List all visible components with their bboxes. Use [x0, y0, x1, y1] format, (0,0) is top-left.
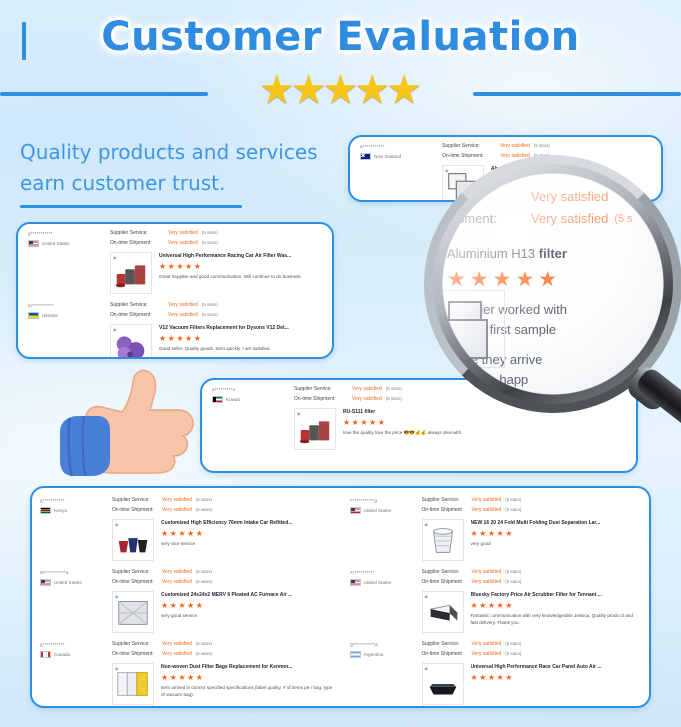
review-text: very good	[471, 540, 642, 547]
product-info: Universal High Performance Race Car Pane…	[471, 663, 642, 705]
supplier-service-row: Supplier Service:Very satisfied(5 stars)	[422, 567, 642, 577]
shipment-row: On-time Shipment:Very satisfied(5 stars)	[112, 505, 333, 515]
review-item: a*********nKuwaitSupplier Service:Very s…	[202, 380, 636, 452]
shipment-note: (5 stars)	[505, 577, 521, 586]
review-product: ◉NEW 16 20 24 Fold Multi Folding Dust Se…	[422, 519, 642, 561]
shipment-value: Very satisfied	[500, 152, 530, 161]
tagline-line-1: Quality products and services	[20, 137, 360, 168]
supplier-service-label: Supplier Service:	[294, 385, 352, 394]
magnified-review: ce: Very satisfied nipment: Very satisfi…	[447, 186, 673, 390]
supplier-service-value: Very satisfied	[472, 496, 502, 505]
supplier-service-label: Supplier Service:	[422, 496, 472, 505]
product-info: RU-S111 filter★★★★★love the quality love…	[343, 408, 628, 450]
supplier-service-row: Supplier Service:Very satisfied(5 stars)	[442, 141, 653, 151]
product-star-rating: ★★★★★	[161, 600, 333, 611]
supplier-service-value: Very satisfied	[352, 385, 382, 394]
review-buyer: A***********United States	[342, 567, 422, 633]
product-star-rating: ★★★★★	[161, 528, 333, 539]
product-title[interactable]: Universal High Performance Racing Car Ai…	[159, 252, 324, 261]
shipment-label: On-time Shipment:	[112, 506, 162, 515]
supplier-service-value: Very satisfied	[162, 640, 192, 649]
page-title: Customer Evaluation	[0, 14, 681, 60]
shipment-label: On-time Shipment:	[112, 650, 162, 659]
product-info: Bluesky Factory Price Air Scrubber Filte…	[471, 591, 642, 633]
buyer-id: g***********	[40, 641, 112, 648]
product-thumbnail[interactable]: ◉	[110, 324, 152, 359]
country-name: Kenya	[54, 508, 67, 513]
product-star-rating: ★★★★★	[343, 417, 628, 428]
country-flag-icon	[28, 240, 39, 247]
buyer-id: a*********n	[212, 386, 294, 393]
supplier-service-note: (5 stars)	[534, 141, 550, 150]
country-flag-icon	[40, 507, 51, 514]
review-item: Q***********aArgentinaSupplier Service:V…	[342, 635, 650, 707]
review-text: Fantastic communication with very knowle…	[471, 612, 642, 626]
product-title[interactable]: Non-woven Dust Filter Bags Replacement f…	[161, 663, 333, 672]
shipment-label: On-time Shipment:	[422, 506, 472, 515]
review-card-top-left: g***********United StatesSupplier Servic…	[16, 222, 334, 359]
review-item: a***********New ZealandSupplier Service:…	[350, 137, 661, 202]
product-title[interactable]: Customized 24x24x2 MERV 6 Pleated AC Fur…	[161, 591, 333, 600]
country-name: United States	[54, 580, 82, 585]
review-body: Supplier Service:Very satisfied(5 stars)…	[112, 639, 341, 705]
supplier-service-value: Very satisfied	[472, 640, 502, 649]
shipment-note: (5 stars)	[202, 310, 218, 319]
product-thumbnail[interactable]: ◉	[422, 663, 464, 705]
review-item: g***********CanadaSupplier Service:Very …	[32, 635, 341, 707]
review-product: ◉Customized High Efficiency 76mm Intake …	[112, 519, 333, 561]
shipment-value: Very satisfied	[162, 506, 192, 515]
supplier-service-row: Supplier Service:Very satisfied(5 stars)	[294, 384, 628, 394]
review-item: m***********UkraineSupplier Service:Very…	[18, 296, 332, 359]
review-buyer: a*********nKuwait	[202, 384, 294, 450]
product-info: Universal High Performance Racing Car Ai…	[159, 252, 324, 294]
star-icon: ★	[323, 70, 359, 110]
supplier-service-value: Very satisfied	[472, 568, 502, 577]
review-text: Good seller. Quality goods. Sent quickly…	[159, 345, 324, 352]
buyer-country: Kuwait	[212, 396, 294, 403]
review-body: Supplier Service:Very satisfied(5 stars)…	[442, 141, 661, 202]
product-star-rating: ★★★★★	[159, 261, 324, 272]
tagline: Quality products and services earn custo…	[20, 137, 360, 199]
review-item: g***********United StatesSupplier Servic…	[32, 707, 341, 708]
review-text: Item arrived in correct specified specif…	[161, 684, 333, 698]
product-info: Aluminium H13 filter★★★★★	[491, 165, 653, 202]
product-thumbnail[interactable]: ◉	[294, 408, 336, 450]
shipment-value: Very satisfied	[168, 239, 198, 248]
country-flag-icon	[40, 651, 51, 658]
product-star-rating: ★★★★★	[471, 672, 642, 683]
review-body: Supplier Service:Very satisfied(5 stars)…	[294, 384, 636, 450]
supplier-service-row: Supplier Service:Very satisfied(5 stars)	[112, 639, 333, 649]
supplier-service-note: (5 stars)	[202, 228, 218, 237]
supplier-service-label: Supplier Service:	[110, 301, 168, 310]
shipment-label: On-time Shipment:	[110, 239, 168, 248]
supplier-service-value: Very satisfied	[162, 568, 192, 577]
country-name: New Zealand	[374, 154, 401, 159]
review-text: Great Supplier and good communication. W…	[159, 273, 324, 280]
review-item: T***********gUnited StatesSupplier Servi…	[342, 491, 650, 563]
shipment-note: (5 stars)	[202, 238, 218, 247]
review-body: Supplier Service:Very satisfied(5 stars)…	[112, 495, 341, 561]
review-product: ◉Non-woven Dust Filter Bags Replacement …	[112, 663, 333, 705]
product-title[interactable]: Customized High Efficiency 76mm Intake C…	[161, 519, 333, 528]
supplier-service-label: Supplier Service:	[112, 568, 162, 577]
shipment-label: On-time Shipment:	[442, 152, 500, 161]
country-flag-icon	[350, 507, 361, 514]
country-name: United States	[42, 241, 70, 246]
review-grid-left-column: g***********KenyaSupplier Service:Very s…	[32, 488, 341, 706]
country-name: Ukraine	[42, 313, 58, 318]
supplier-service-row: Supplier Service:Very satisfied(5 stars)	[110, 228, 324, 238]
review-card-kuwait: a*********nKuwaitSupplier Service:Very s…	[200, 378, 638, 473]
product-thumbnail[interactable]: ◉	[110, 252, 152, 294]
buyer-id: M***********a	[40, 569, 112, 576]
shipment-row: On-time Shipment:Very satisfied(5 stars)	[422, 505, 642, 515]
supplier-service-row: Supplier Service:Very satisfied(5 stars)	[112, 495, 333, 505]
shipment-note: (5 stars)	[196, 649, 212, 658]
review-buyer: T***********gUnited States	[342, 495, 422, 561]
magnified-product-thumbnail	[439, 290, 505, 368]
magnified-shipment-label: nipment:	[447, 208, 531, 230]
star-icon: ★	[354, 70, 390, 110]
buyer-id: Q***********a	[350, 641, 422, 648]
shipment-note: (5 stars)	[505, 505, 521, 514]
supplier-service-note: (5 stars)	[505, 495, 521, 504]
product-star-rating: ★★★★★	[471, 600, 642, 611]
magnified-shipment-value: Very satisfied	[531, 208, 608, 230]
review-buyer: g***********Kenya	[32, 495, 112, 561]
product-thumbnail[interactable]: ◉	[112, 591, 154, 633]
buyer-country: New Zealand	[360, 153, 442, 160]
product-thumbnail[interactable]: ◉	[442, 165, 484, 202]
product-star-rating: ★★★★★	[491, 174, 653, 185]
review-body: Supplier Service:Very satisfied(5 stars)…	[422, 495, 650, 561]
product-thumbnail[interactable]: ◉	[422, 519, 464, 561]
shipment-label: On-time Shipment:	[294, 395, 352, 404]
shipment-note: (5 stars)	[505, 649, 521, 658]
buyer-country: United States	[350, 507, 422, 514]
supplier-service-note: (5 stars)	[505, 567, 521, 576]
supplier-service-note: (5 stars)	[386, 384, 402, 393]
product-thumbnail[interactable]: ◉	[422, 591, 464, 633]
shipment-row: On-time Shipment:Very satisfied(5 stars)	[112, 649, 333, 659]
buyer-id: g***********	[40, 497, 112, 504]
review-body: Supplier Service:Very satisfied(5 stars)…	[112, 567, 341, 633]
review-card-top-right: a***********New ZealandSupplier Service:…	[348, 135, 663, 202]
buyer-country: Kenya	[40, 507, 112, 514]
shipment-value: Very satisfied	[168, 311, 198, 320]
product-info: Non-woven Dust Filter Bags Replacement f…	[161, 663, 333, 705]
shipment-value: Very satisfied	[162, 650, 192, 659]
shipment-note: (5 stars)	[196, 577, 212, 586]
supplier-service-label: Supplier Service:	[112, 496, 162, 505]
buyer-id: A***********	[350, 569, 422, 576]
supplier-service-label: Supplier Service:	[112, 640, 162, 649]
country-flag-icon	[40, 579, 51, 586]
review-item: g***********United StatesSupplier Servic…	[18, 224, 332, 296]
tagline-underline	[20, 205, 242, 208]
review-product: ◉V12 Vacuum Filters Replacement for Dyso…	[110, 324, 324, 359]
shipment-note: (5 stars)	[534, 151, 550, 160]
review-item: M***********yGermanySupplier Service:Ver…	[342, 707, 650, 708]
supplier-service-row: Supplier Service:Very satisfied(5 stars)	[112, 567, 333, 577]
shipment-label: On-time Shipment:	[422, 578, 472, 587]
supplier-service-row: Supplier Service:Very satisfied(5 stars)	[110, 300, 324, 310]
review-item: M***********aUnited StatesSupplier Servi…	[32, 563, 341, 635]
review-buyer: m***********Ukraine	[18, 300, 110, 359]
supplier-service-note: (5 stars)	[202, 300, 218, 309]
magnifier-handle	[634, 366, 681, 468]
country-flag-icon	[212, 396, 223, 403]
supplier-service-label: Supplier Service:	[422, 640, 472, 649]
shipment-label: On-time Shipment:	[112, 578, 162, 587]
review-buyer: M***********aUnited States	[32, 567, 112, 633]
country-flag-icon	[350, 579, 361, 586]
product-title[interactable]: V12 Vacuum Filters Replacement for Dyson…	[159, 324, 324, 333]
review-body: Supplier Service:Very satisfied(5 stars)…	[110, 228, 332, 294]
review-product: ◉RU-S111 filter★★★★★love the quality lov…	[294, 408, 628, 450]
shipment-value: Very satisfied	[352, 395, 382, 404]
star-icon: ★	[386, 70, 422, 110]
review-text: love the quality love the price 😎😎💰💰 alw…	[343, 429, 628, 436]
buyer-id: T***********g	[350, 497, 422, 504]
product-thumbnail[interactable]: ◉	[112, 519, 154, 561]
review-product: ◉Aluminium H13 filter★★★★★	[442, 165, 653, 202]
product-thumbnail[interactable]: ◉	[112, 663, 154, 705]
buyer-id: a***********	[360, 143, 442, 150]
shipment-value: Very satisfied	[472, 578, 502, 587]
thumbs-up-icon	[38, 360, 208, 480]
review-buyer: g***********Canada	[32, 639, 112, 705]
product-title[interactable]: RU-S111 filter	[343, 408, 628, 417]
shipment-row: On-time Shipment:Very satisfied(5 stars)	[422, 577, 642, 587]
review-body: Supplier Service:Very satisfied(5 stars)…	[110, 300, 332, 359]
supplier-service-label: Supplier Service:	[422, 568, 472, 577]
review-product: ◉Bluesky Factory Price Air Scrubber Filt…	[422, 591, 642, 633]
review-body: Supplier Service:Very satisfied(5 stars)…	[422, 567, 650, 633]
buyer-country: Argentina	[350, 651, 422, 658]
review-text: very nice service	[161, 540, 333, 547]
product-star-rating: ★★★★★	[471, 528, 642, 539]
country-name: Canada	[54, 652, 70, 657]
review-buyer: g***********United States	[18, 228, 110, 294]
review-grid-card: g***********KenyaSupplier Service:Very s…	[30, 486, 651, 708]
supplier-service-row: Supplier Service:Very satisfied(5 stars)	[422, 495, 642, 505]
shipment-row: On-time Shipment:Very satisfied(5 stars)	[112, 577, 333, 587]
product-info: Customized High Efficiency 76mm Intake C…	[161, 519, 333, 561]
product-info: NEW 16 20 24 Fold Multi Folding Dust Sep…	[471, 519, 642, 561]
review-product: ◉Customized 24x24x2 MERV 6 Pleated AC Fu…	[112, 591, 333, 633]
shipment-note: (5 stars)	[386, 394, 402, 403]
supplier-service-note: (5 stars)	[196, 495, 212, 504]
supplier-service-note: (5 stars)	[196, 567, 212, 576]
review-product: ◉Universal High Performance Racing Car A…	[110, 252, 324, 294]
country-name: Kuwait	[226, 397, 240, 402]
buyer-country: United States	[350, 579, 422, 586]
shipment-row: On-time Shipment:Very satisfied(5 stars)	[294, 394, 628, 404]
product-title[interactable]: NEW 16 20 24 Fold Multi Folding Dust Sep…	[471, 519, 642, 528]
shipment-row: On-time Shipment:Very satisfied(5 stars)	[442, 151, 653, 161]
review-buyer: Q***********aArgentina	[342, 639, 422, 705]
shipment-row: On-time Shipment:Very satisfied(5 stars)	[422, 649, 642, 659]
shipment-label: On-time Shipment:	[422, 650, 472, 659]
shipment-note: (5 stars)	[196, 505, 212, 514]
shipment-value: Very satisfied	[162, 578, 192, 587]
product-title[interactable]: Universal High Performance Race Car Pane…	[471, 663, 642, 672]
review-buyer: a***********New Zealand	[350, 141, 442, 202]
supplier-service-label: Supplier Service:	[110, 229, 168, 238]
magnified-star-rating: ★★★★★	[447, 267, 673, 292]
supplier-service-value: Very satisfied	[500, 142, 530, 151]
buyer-id: m***********	[28, 302, 110, 309]
product-title[interactable]: Bluesky Factory Price Air Scrubber Filte…	[471, 591, 642, 600]
country-flag-icon	[360, 153, 371, 160]
supplier-service-row: Supplier Service:Very satisfied(5 stars)	[422, 639, 642, 649]
supplier-service-label: Supplier Service:	[442, 142, 500, 151]
supplier-service-value: Very satisfied	[162, 496, 192, 505]
review-grid-right-column: T***********gUnited StatesSupplier Servi…	[341, 488, 650, 706]
country-name: United States	[364, 580, 392, 585]
product-star-rating: ★★★★★	[161, 672, 333, 683]
country-name: Argentina	[364, 652, 384, 657]
supplier-service-note: (5 stars)	[505, 639, 521, 648]
header-star-rating: ★ ★ ★ ★ ★	[0, 70, 681, 110]
review-body: Supplier Service:Very satisfied(5 stars)…	[422, 639, 650, 705]
product-title[interactable]: Aluminium H13 filter	[491, 165, 653, 174]
buyer-country: Ukraine	[28, 312, 110, 319]
tagline-line-2: earn customer trust.	[20, 168, 360, 199]
shipment-row: On-time Shipment:Very satisfied(5 stars)	[110, 310, 324, 320]
magnified-product-title: Aluminium H13 filter	[447, 246, 673, 261]
supplier-service-note: (5 stars)	[196, 639, 212, 648]
buyer-country: United States	[40, 579, 112, 586]
supplier-service-value: Very satisfied	[168, 229, 198, 238]
page-header: Customer Evaluation ★ ★ ★ ★ ★	[0, 0, 681, 130]
shipment-value: Very satisfied	[472, 650, 502, 659]
buyer-country: Canada	[40, 651, 112, 658]
product-info: Customized 24x24x2 MERV 6 Pleated AC Fur…	[161, 591, 333, 633]
review-item: g***********KenyaSupplier Service:Very s…	[32, 491, 341, 563]
magnified-shipment-note: (5 s	[614, 208, 632, 230]
buyer-id: g***********	[28, 230, 110, 237]
buyer-country: United States	[28, 240, 110, 247]
star-icon: ★	[259, 70, 295, 110]
shipment-label: On-time Shipment:	[110, 311, 168, 320]
magnified-shipment-row: nipment: Very satisfied (5 s	[447, 208, 673, 230]
review-item: A***********United StatesSupplier Servic…	[342, 563, 650, 635]
magnified-review-text: Supplier worked with es of a first sampl…	[447, 300, 673, 390]
product-star-rating: ★★★★★	[159, 333, 324, 344]
supplier-service-value: Very satisfied	[168, 301, 198, 310]
product-info: V12 Vacuum Filters Replacement for Dyson…	[159, 324, 324, 359]
country-name: United States	[364, 508, 392, 513]
shipment-value: Very satisfied	[472, 506, 502, 515]
country-flag-icon	[350, 651, 361, 658]
country-flag-icon	[28, 312, 39, 319]
review-text: very good service	[161, 612, 333, 619]
star-icon: ★	[291, 70, 327, 110]
review-product: ◉Universal High Performance Race Car Pan…	[422, 663, 642, 705]
shipment-row: On-time Shipment:Very satisfied(5 stars)	[110, 238, 324, 248]
